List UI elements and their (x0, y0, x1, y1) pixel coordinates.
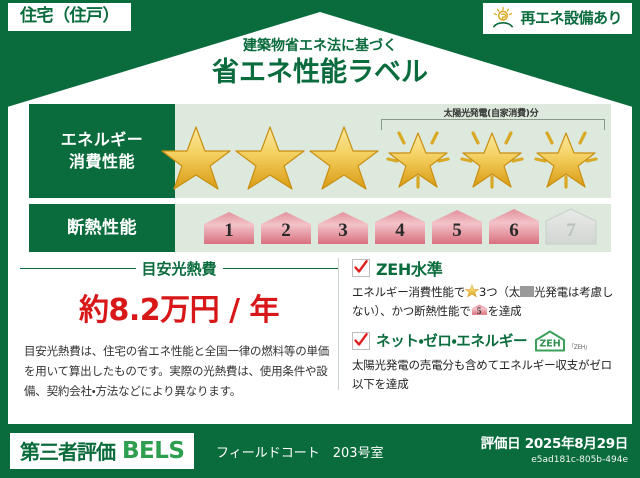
zeh-standard-heading: ZEH水準 (352, 256, 620, 280)
utility-cost-heading: 目安光熱費 (20, 258, 338, 279)
utility-cost-value: 約8.2万円 / 年 (20, 285, 338, 329)
insulation-level-2: 2 (258, 208, 314, 248)
net-zero-heading: ネット・ゼロ・エネルギー ZEH 「ZEH」 (352, 329, 620, 353)
utility-cost-heading-text: 目安光熱費 (142, 258, 217, 279)
zeh-standard-description: エネルギー消費性能で3つ（太光発電は考慮しない）、かつ断熱性能で5を達成 (352, 283, 620, 321)
bels-logo-en: BELS (122, 438, 184, 464)
insulation-performance-label: 断熱性能 (29, 204, 175, 252)
insulation-level-6: 6 (486, 208, 542, 248)
zeh-standard-block: ZEH水準 エネルギー消費性能で3つ（太光発電は考慮しない）、かつ断熱性能で5を… (352, 256, 620, 321)
insulation-performance-row: 断熱性能 1 2 (29, 204, 611, 252)
energy-label-card: 住宅（住戸） 再エネ設備あり 建築物 (0, 0, 640, 478)
heading-rule-left (20, 268, 136, 269)
svg-text:ZEH: ZEH (540, 338, 561, 349)
renewable-energy-badge: 再エネ設備あり (483, 3, 632, 34)
net-zero-title: ネット・ゼロ・エネルギー (376, 330, 527, 351)
star-filled (161, 119, 231, 193)
energy-performance-value: 太陽光発電(自家消費)分 (175, 104, 611, 198)
insulation-level-6-number: 6 (486, 220, 542, 242)
star-solar (531, 119, 601, 193)
evaluation-id: e5ad181c-805b-494e (481, 455, 628, 465)
checkbox-checked-icon (352, 332, 370, 350)
zeh-desc-star-count: 3つ（太 (479, 285, 520, 299)
title-subtitle: 建築物省エネ法に基づく (0, 38, 640, 55)
insulation-level-7-number: 7 (543, 220, 599, 242)
heading-rule-right (223, 268, 339, 269)
insulation-level-5: 5 (429, 208, 485, 248)
net-zero-block: ネット・ゼロ・エネルギー ZEH 「ZEH」 太陽光発電の売電分も含めてエネルギ… (352, 329, 620, 394)
evaluation-date: 評価日 2025年8月29日 (481, 432, 628, 452)
insulation-level-3-number: 3 (315, 220, 371, 242)
zeh-standard-title: ZEH水準 (376, 256, 442, 280)
zeh-desc-part3: を達成 (488, 304, 522, 318)
insulation-level-7: 7 (543, 208, 599, 248)
zeh-logo-caption: 「ZEH」 (568, 342, 590, 353)
bels-logo: 第三者評価 BELS (10, 433, 194, 469)
star-icon (465, 283, 479, 297)
insulation-house-icon: 5 (471, 303, 488, 317)
insulation-level-3: 3 (315, 208, 371, 248)
building-name: フィールドコート 203号室 (216, 442, 384, 461)
renewable-energy-badge-label: 再エネ設備あり (520, 10, 622, 27)
energy-label-line1: エネルギー (61, 129, 144, 151)
checkbox-checked-icon (352, 259, 370, 277)
top-badge-bar: 住宅（住戸） 再エネ設備あり (0, 0, 640, 38)
zeh-desc-part1: エネルギー消費性能で (352, 285, 465, 299)
utility-cost-section: 目安光熱費 約8.2万円 / 年 目安光熱費は、住宅の省エネ性能と全国一律の燃料… (20, 256, 338, 416)
label-footer: 第三者評価 BELS フィールドコート 203号室 評価日 2025年8月29日… (0, 424, 640, 478)
energy-performance-row: エネルギー 消費性能 太陽光発電(自家消費)分 (29, 104, 611, 198)
insulation-level-2-number: 2 (258, 220, 314, 242)
insulation-level-4-number: 4 (372, 220, 428, 242)
star-filled (309, 119, 379, 193)
insulation-level-4: 4 (372, 208, 428, 248)
lower-sections: 目安光熱費 約8.2万円 / 年 目安光熱費は、住宅の省エネ性能と全国一律の燃料… (20, 256, 620, 416)
building-type-badge: 住宅（住戸） (8, 3, 131, 31)
label-title-block: 建築物省エネ法に基づく 省エネ性能ラベル (0, 38, 640, 90)
redacted-text (520, 286, 534, 297)
insulation-level-scale: 1 2 3 4 5 (175, 204, 611, 252)
insulation-house-icon-number: 5 (471, 304, 488, 319)
solar-portion-bracket (381, 119, 605, 130)
sun-icon (491, 6, 515, 30)
energy-performance-label: エネルギー 消費性能 (29, 104, 175, 198)
evaluation-info: 評価日 2025年8月29日 e5ad181c-805b-494e (481, 432, 628, 465)
insulation-level-1: 1 (201, 208, 257, 248)
solar-portion-note: 太陽光発電(自家消費)分 (375, 106, 607, 119)
energy-label-line2: 消費性能 (69, 151, 135, 173)
title-main: 省エネ性能ラベル (0, 56, 640, 90)
net-zero-description: 太陽光発電の売電分も含めてエネルギー収支がゼロ以下を達成 (352, 356, 620, 394)
zeh-logo-icon: ZEH 「ZEH」 (533, 329, 590, 353)
bels-logo-jp: 第三者評価 (20, 436, 115, 465)
insulation-label-text: 断熱性能 (67, 217, 137, 240)
star-solar (457, 119, 527, 193)
utility-cost-note: 目安光熱費は、住宅の省エネ性能と全国一律の燃料等の単価を用いて算出したものです。… (20, 341, 338, 401)
insulation-level-5-number: 5 (429, 220, 485, 242)
insulation-performance-value: 1 2 3 4 5 (175, 204, 611, 252)
zeh-section: ZEH水準 エネルギー消費性能で3つ（太光発電は考慮しない）、かつ断熱性能で5を… (338, 256, 620, 416)
performance-panel: エネルギー 消費性能 太陽光発電(自家消費)分 (29, 104, 611, 258)
insulation-level-1-number: 1 (201, 220, 257, 242)
star-solar (383, 119, 453, 193)
star-filled (235, 119, 305, 193)
